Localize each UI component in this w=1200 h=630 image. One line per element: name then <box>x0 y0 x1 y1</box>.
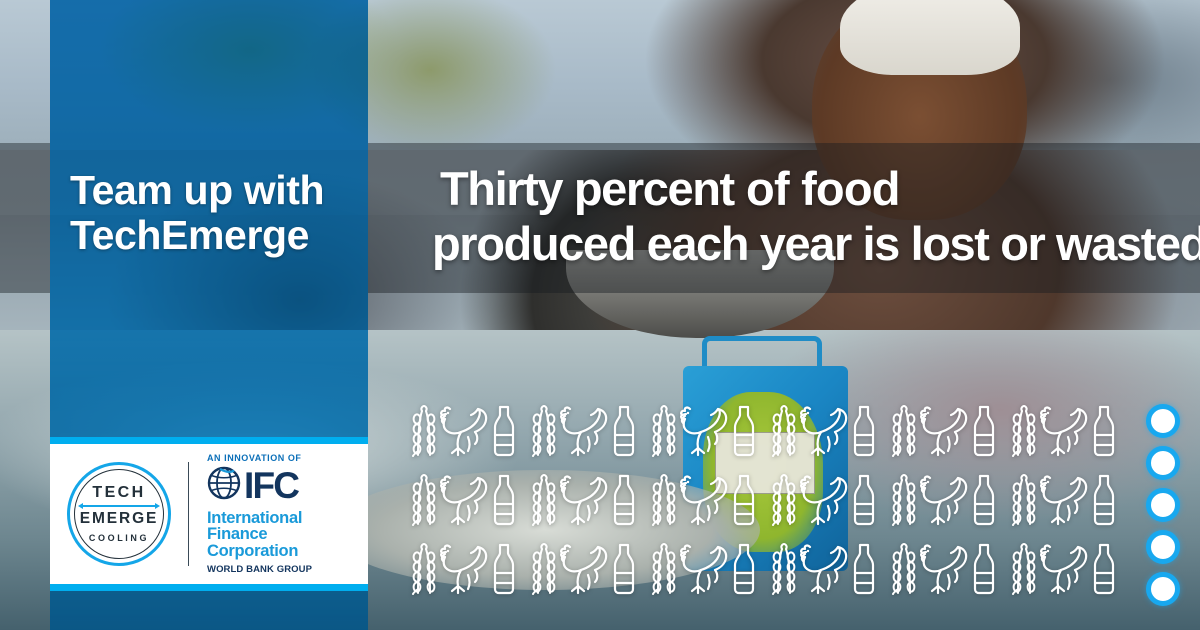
wheat-icon <box>769 543 799 595</box>
food-icon-pattern <box>404 398 1124 604</box>
ifc-mark: IFC <box>207 466 368 505</box>
wheat-icon <box>889 543 919 595</box>
badge-divider-rule <box>82 505 156 507</box>
milk-bottle-icon <box>849 474 879 526</box>
rooster-icon <box>557 405 611 457</box>
main-headline-emphasis: Thirty percent <box>440 162 734 215</box>
badge-emerge-label: EMERGE <box>80 511 159 527</box>
ifc-fullname: International Finance Corporation <box>207 510 368 560</box>
wheat-icon <box>769 405 799 457</box>
banner-stage: Team up with TechEmerge Thirty percent o… <box>0 0 1200 630</box>
rooster-icon <box>797 405 851 457</box>
milk-bottle-icon <box>489 405 519 457</box>
milk-bottle-icon <box>609 405 639 457</box>
milk-bottle-icon <box>609 543 639 595</box>
wheat-icon <box>889 474 919 526</box>
wheat-icon <box>529 543 559 595</box>
rooster-icon <box>797 543 851 595</box>
left-headline: Team up with TechEmerge <box>70 168 370 258</box>
rooster-icon <box>1037 405 1091 457</box>
rooster-icon <box>917 474 971 526</box>
wheat-icon <box>649 474 679 526</box>
wheat-icon <box>409 405 439 457</box>
ifc-fullname-line2: Finance <box>207 526 368 543</box>
globe-icon <box>207 466 241 505</box>
milk-bottle-icon <box>1089 474 1119 526</box>
left-headline-line2: TechEmerge <box>70 213 370 258</box>
wheat-icon <box>1009 405 1039 457</box>
milk-bottle-icon <box>729 474 759 526</box>
dot-decoration <box>1146 404 1180 438</box>
rooster-icon <box>677 405 731 457</box>
wheat-icon <box>529 474 559 526</box>
milk-bottle-icon <box>489 543 519 595</box>
dot-decoration-column <box>1146 404 1180 614</box>
ifc-logo-block: AN INNOVATION OF IFC International Fi <box>189 453 368 576</box>
milk-bottle-icon <box>849 405 879 457</box>
photo-headwrap <box>840 0 1020 75</box>
wheat-icon <box>529 405 559 457</box>
rooster-icon <box>1037 474 1091 526</box>
rooster-icon <box>917 405 971 457</box>
wheat-icon <box>409 474 439 526</box>
photo-scale-handle <box>702 336 822 370</box>
ifc-fullname-line3: Corporation <box>207 543 368 560</box>
wheat-icon <box>649 543 679 595</box>
milk-bottle-icon <box>729 405 759 457</box>
milk-bottle-icon <box>1089 405 1119 457</box>
milk-bottle-icon <box>1089 543 1119 595</box>
wheat-icon <box>889 405 919 457</box>
badge-cooling-label: COOLING <box>89 533 149 543</box>
rooster-icon <box>797 474 851 526</box>
milk-bottle-icon <box>489 474 519 526</box>
techemerge-badge-wrap: TECH EMERGE COOLING <box>50 462 188 566</box>
wheat-icon <box>409 543 439 595</box>
main-headline-line1: Thirty percent of food <box>440 163 1140 216</box>
rooster-icon <box>917 543 971 595</box>
dot-decoration <box>1146 446 1180 480</box>
badge-tech-label: TECH <box>92 485 145 501</box>
rooster-icon <box>677 474 731 526</box>
wheat-icon <box>1009 474 1039 526</box>
rooster-icon <box>557 474 611 526</box>
dot-decoration <box>1146 530 1180 564</box>
world-bank-group-label: WORLD BANK GROUP <box>207 564 368 575</box>
wheat-icon <box>649 405 679 457</box>
main-headline: Thirty percent of food produced each yea… <box>440 163 1140 270</box>
milk-bottle-icon <box>729 543 759 595</box>
milk-bottle-icon <box>969 405 999 457</box>
dot-decoration <box>1146 488 1180 522</box>
milk-bottle-icon <box>609 474 639 526</box>
techemerge-badge: TECH EMERGE COOLING <box>67 462 171 566</box>
wheat-icon <box>1009 543 1039 595</box>
logo-card: TECH EMERGE COOLING AN INNOVATION OF <box>50 437 368 591</box>
milk-bottle-icon <box>969 543 999 595</box>
rooster-icon <box>1037 543 1091 595</box>
rooster-icon <box>557 543 611 595</box>
milk-bottle-icon <box>969 474 999 526</box>
ifc-kicker-label: AN INNOVATION OF <box>207 453 368 463</box>
main-headline-tail: of food <box>734 162 900 215</box>
ifc-fullname-line1: International <box>207 510 368 527</box>
rooster-icon <box>677 543 731 595</box>
dot-decoration <box>1146 572 1180 606</box>
milk-bottle-icon <box>849 543 879 595</box>
rooster-icon <box>437 474 491 526</box>
ifc-wordmark: IFC <box>244 470 298 501</box>
rooster-icon <box>437 543 491 595</box>
main-headline-line2: produced each year is lost or wasted. <box>432 218 1140 271</box>
wheat-icon <box>769 474 799 526</box>
headline-scrim-left <box>0 143 50 293</box>
left-headline-line1: Team up with <box>70 167 324 213</box>
rooster-icon <box>437 405 491 457</box>
